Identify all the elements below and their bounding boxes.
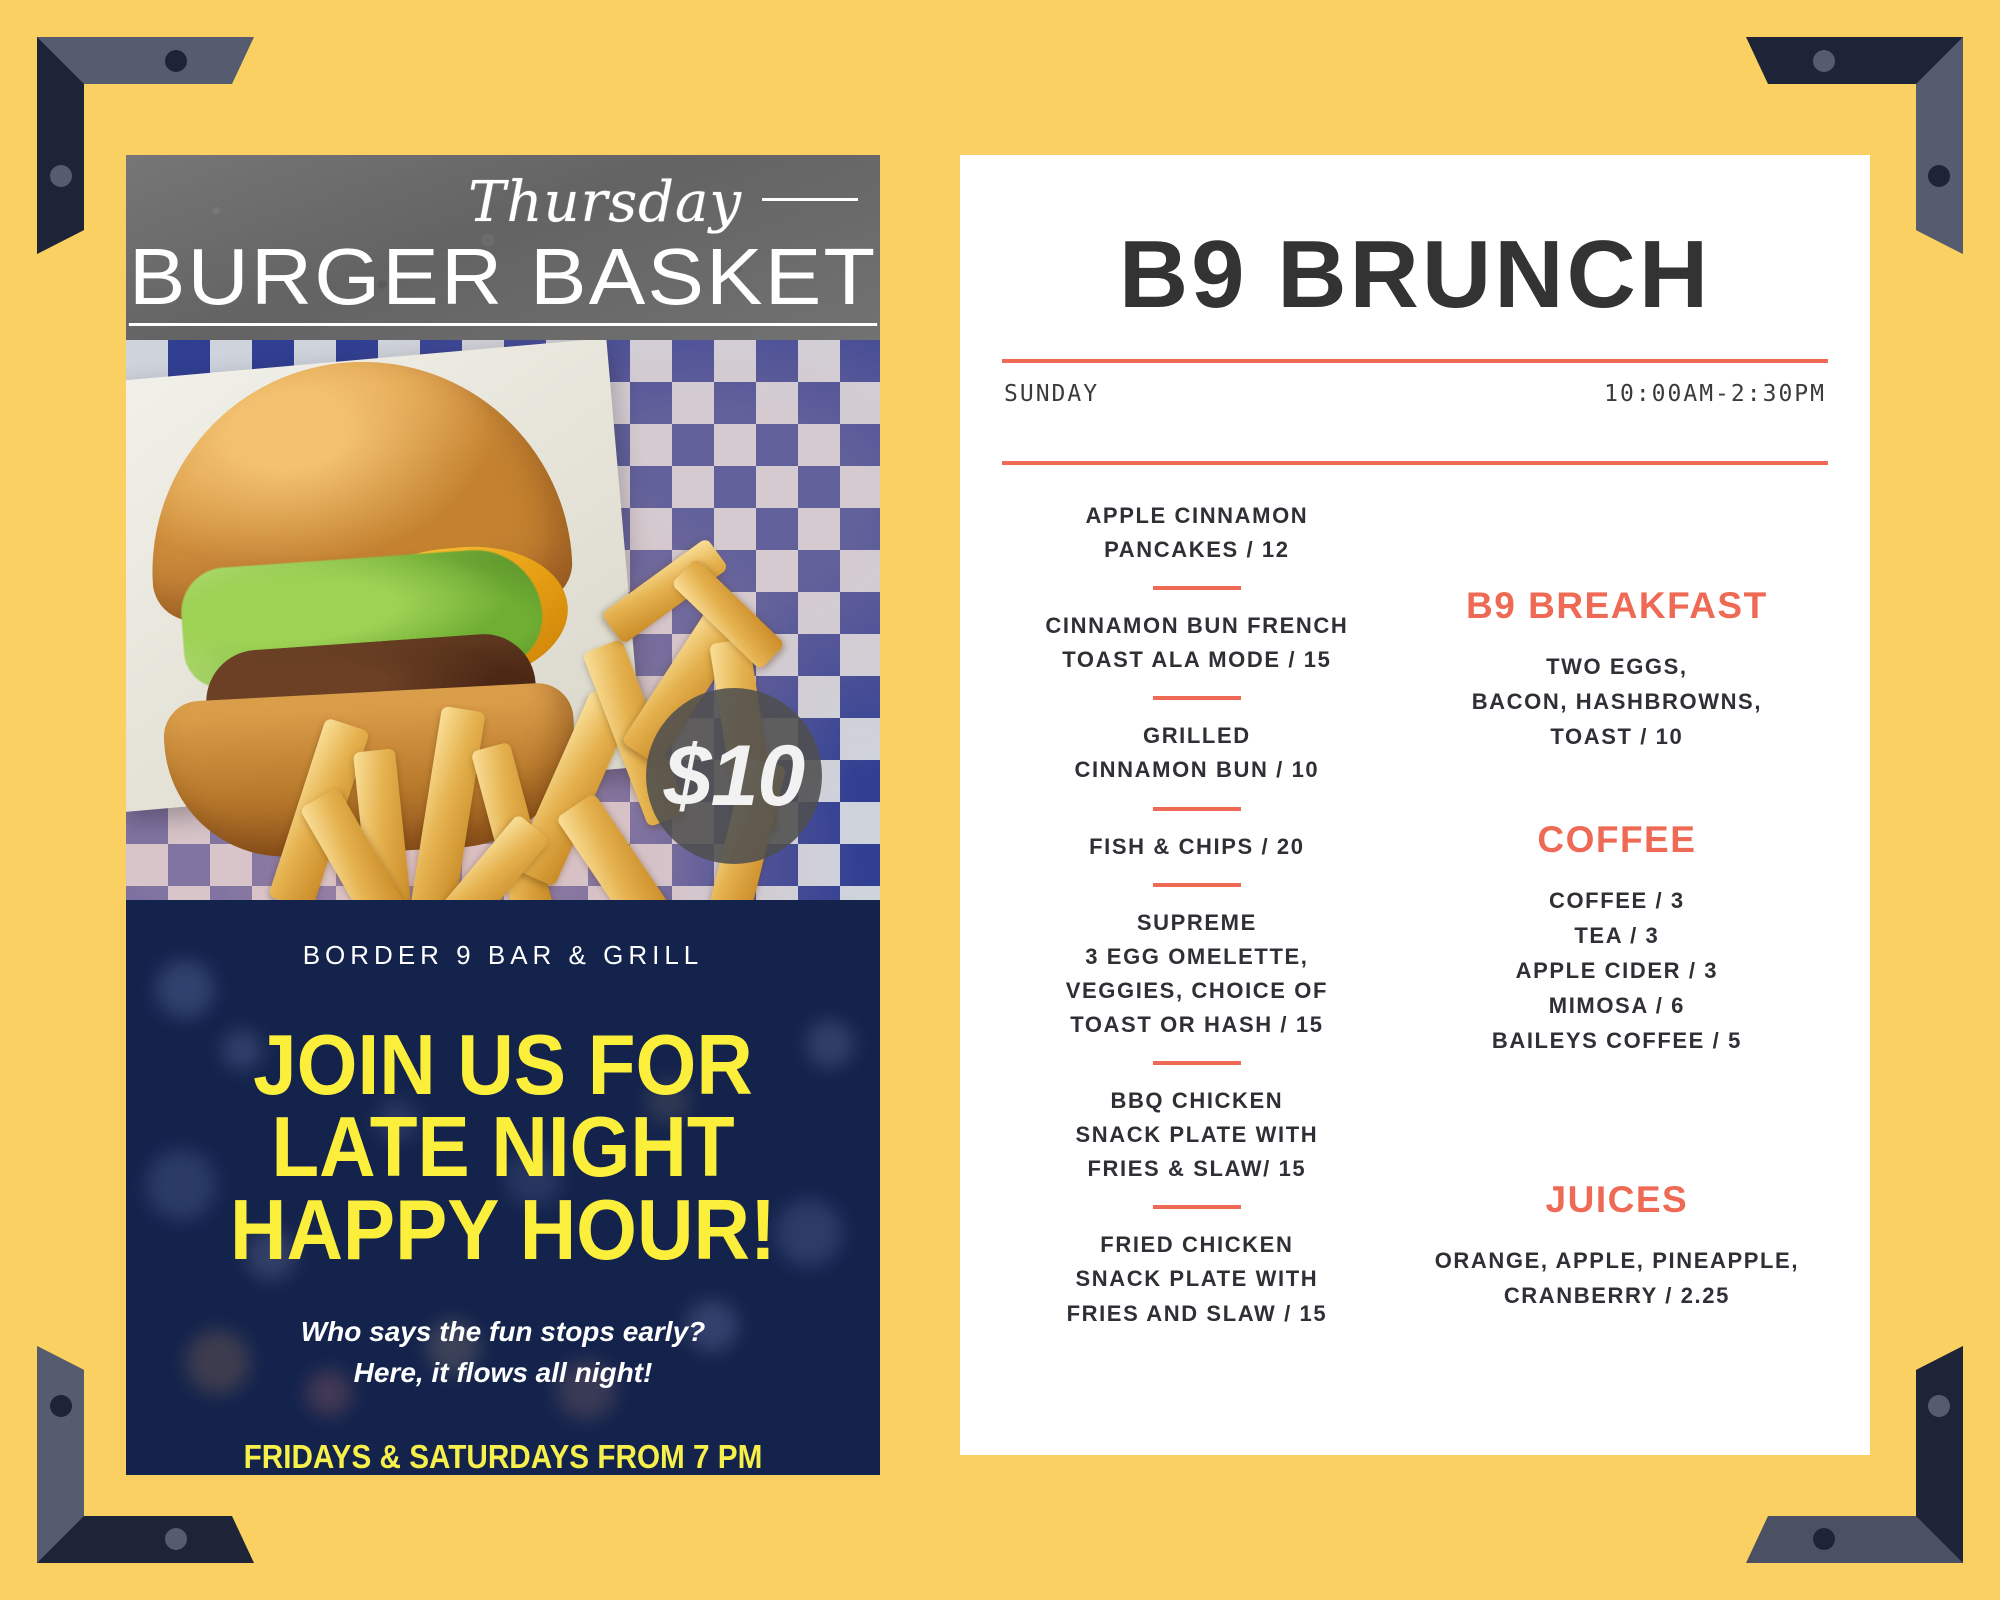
poster-headline: JOIN US FOR LATE NIGHT HAPPY HOUR! (156, 1025, 850, 1272)
poster-body: BORDER 9 BAR & GRILL JOIN US FOR LATE NI… (126, 900, 880, 1475)
section-body: COFFEE / 3TEA / 3APPLE CIDER / 3MIMOSA /… (1406, 883, 1828, 1059)
tagline-line-2: Here, it flows all night! (126, 1353, 880, 1394)
headline-line-3: HAPPY HOUR! (156, 1190, 850, 1272)
hours-line-1: FRIDAYS & SATURDAYS FROM 7 PM (164, 1436, 843, 1476)
menu-item: FISH & CHIPS / 20 (1002, 830, 1392, 864)
menu-section-b9-breakfast: B9 BREAKFAST TWO EGGS,BACON, HASHBROWNS,… (1406, 585, 1828, 755)
menu-item: APPLE CINNAMONPANCAKES / 12 (1002, 499, 1392, 567)
menu-rule-bottom (1002, 461, 1828, 465)
section-body: TWO EGGS,BACON, HASHBROWNS,TOAST / 10 (1406, 649, 1828, 755)
poster-tagline: Who says the fun stops early? Here, it f… (126, 1312, 880, 1393)
burger-photo: $10 (126, 340, 880, 900)
poster-title: BURGER BASKET (126, 237, 880, 326)
menu-time: 10:00AM-2:30PM (1604, 381, 1826, 407)
menu-title: B9 BRUNCH (1002, 201, 1828, 323)
poster-brand: BORDER 9 BAR & GRILL (126, 900, 880, 971)
price-badge-label: $10 (664, 727, 805, 826)
poster-header: Thursday BURGER BASKET (126, 155, 880, 340)
item-separator (1153, 1205, 1241, 1209)
section-title: JUICES (1406, 1179, 1828, 1221)
menu-schedule-row: SUNDAY 10:00AM-2:30PM (1002, 363, 1828, 425)
section-body: ORANGE, APPLE, PINEAPPLE,CRANBERRY / 2.2… (1406, 1243, 1828, 1313)
menu-item: GRILLEDCINNAMON BUN / 10 (1002, 719, 1392, 787)
menu-item: SUPREME3 EGG OMELETTE,VEGGIES, CHOICE OF… (1002, 906, 1392, 1042)
poster-title-text: BURGER BASKET (129, 237, 878, 326)
item-separator (1153, 696, 1241, 700)
item-separator (1153, 883, 1241, 887)
menu-item: BBQ CHICKENSNACK PLATE WITHFRIES & SLAW/… (1002, 1084, 1392, 1186)
tagline-line-1: Who says the fun stops early? (126, 1312, 880, 1353)
burger-illustration (148, 362, 578, 792)
menu-day: SUNDAY (1004, 381, 1099, 407)
section-title: B9 BREAKFAST (1406, 585, 1828, 627)
menu-column-left: APPLE CINNAMONPANCAKES / 12 CINNAMON BUN… (1002, 499, 1396, 1331)
poster-day-row: Thursday (126, 163, 880, 241)
burger-basket-poster: Thursday BURGER BASKET (126, 155, 880, 1475)
item-separator (1153, 586, 1241, 590)
item-separator (1153, 1061, 1241, 1065)
poster-hours: FRIDAYS & SATURDAYS FROM 7 PM UNTIL CLOS… (164, 1436, 843, 1476)
headline-line-2: LATE NIGHT (156, 1107, 850, 1189)
menu-column-right: B9 BREAKFAST TWO EGGS,BACON, HASHBROWNS,… (1396, 499, 1828, 1331)
price-badge: $10 (646, 688, 822, 864)
menu-item: CINNAMON BUN FRENCHTOAST ALA MODE / 15 (1002, 609, 1392, 677)
item-separator (1153, 807, 1241, 811)
menu-section-juices: JUICES ORANGE, APPLE, PINEAPPLE,CRANBERR… (1406, 1179, 1828, 1313)
headline-line-1: JOIN US FOR (156, 1025, 850, 1107)
brunch-menu-card: B9 BRUNCH SUNDAY 10:00AM-2:30PM APPLE CI… (960, 155, 1870, 1455)
menu-item: FRIED CHICKENSNACK PLATE WITHFRIES AND S… (1002, 1228, 1392, 1330)
section-title: COFFEE (1406, 819, 1828, 861)
menu-section-coffee: COFFEE COFFEE / 3TEA / 3APPLE CIDER / 3M… (1406, 819, 1828, 1059)
poster-day-rule (762, 198, 858, 201)
poster-day: Thursday (468, 170, 742, 235)
